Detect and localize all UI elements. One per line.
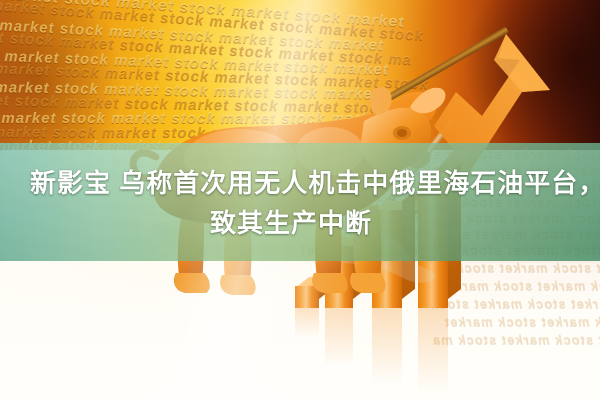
chart-bar-3-reflection: [372, 308, 402, 384]
word-row-floor: stock market stock market stock market s…: [440, 278, 600, 293]
headline-line-2: 致其生产中断: [0, 203, 600, 243]
headline-line-1: 新影宝 乌称首次用无人机击中俄里海石油平台，: [0, 163, 600, 203]
headline-text-block: 新影宝 乌称首次用无人机击中俄里海石油平台， 致其生产中断: [0, 143, 600, 261]
word-row-floor: stock market stock market stock market s…: [444, 314, 600, 329]
word-row-floor: market stock market stock market stock m…: [430, 296, 600, 311]
chart-bar-2-reflection: [325, 308, 353, 366]
chart-bar-4-reflection: [418, 308, 448, 394]
news-thumbnail-image: stock market stock market stock market s…: [0, 0, 600, 400]
chart-bar-1-reflection: [295, 308, 319, 338]
word-row-floor: ket stock market stock market stock mark…: [432, 332, 600, 347]
